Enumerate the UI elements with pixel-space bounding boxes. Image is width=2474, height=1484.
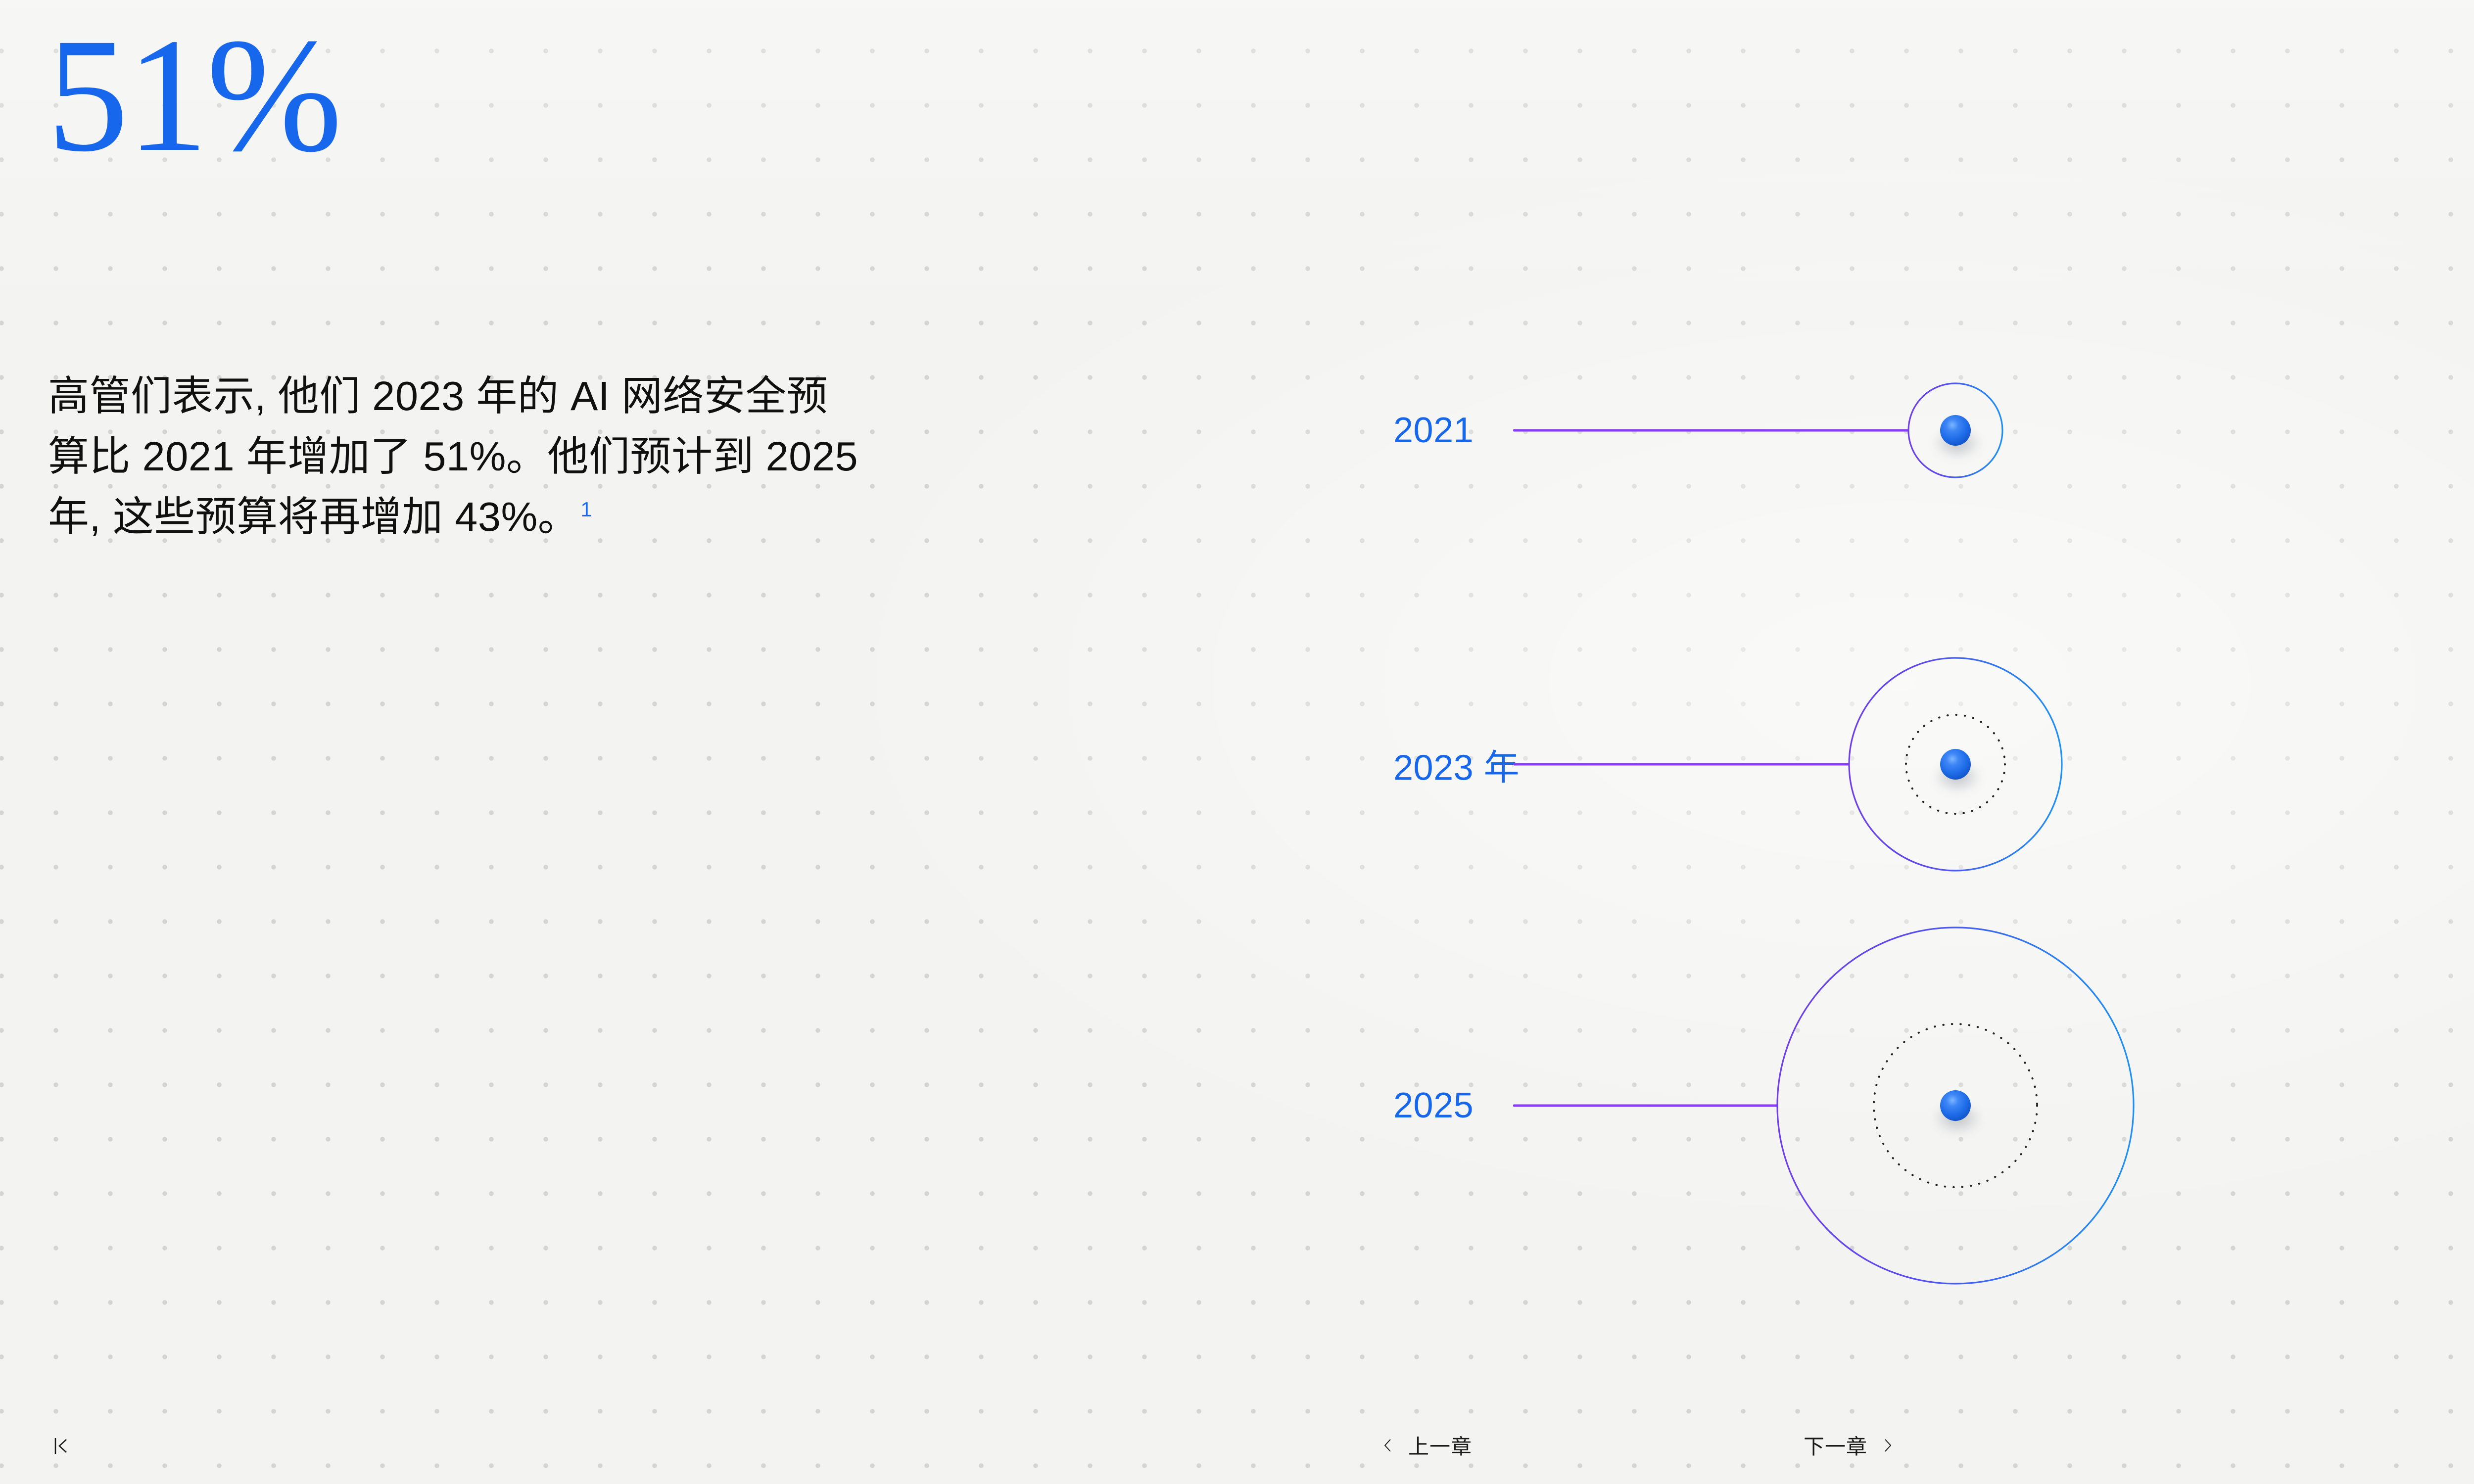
left-content-column: 51% 高管们表示, 他们 2023 年的 AI 网络安全预算比 2021 年增… [47,0,898,1484]
prev-chapter-label: 上一章 [1408,1430,1472,1460]
bubble-orb-2025 [1940,1090,1971,1121]
bubble-label-2023: 2023 年 [1393,739,1520,790]
bubble-orb-2021 [1940,415,1971,446]
skip-to-start-icon [53,1437,70,1455]
connector-line-2023 [1513,763,1849,766]
next-chapter-button[interactable]: 下一章 [1804,1430,1895,1460]
body-paragraph: 高管们表示, 他们 2023 年的 AI 网络安全预算比 2021 年增加了 5… [48,366,859,547]
footer-bar: 上一章 下一章 8 [0,1405,2474,1484]
next-chapter-label: 下一章 [1804,1430,1867,1460]
connector-line-2025 [1513,1105,1777,1107]
chevron-left-icon [1380,1438,1395,1453]
footnote-marker[interactable]: 1 [580,498,592,521]
slide-page: 51% 高管们表示, 他们 2023 年的 AI 网络安全预算比 2021 年增… [0,0,2474,1484]
bubble-orb-2023 [1940,749,1971,780]
body-paragraph-text: 高管们表示, 他们 2023 年的 AI 网络安全预算比 2021 年增加了 5… [48,373,858,540]
bubble-label-2025: 2025 [1393,1085,1474,1126]
bubble-label-2021: 2021 [1393,410,1474,451]
chevron-right-icon [1880,1438,1895,1453]
prev-chapter-button[interactable]: 上一章 [1380,1430,1472,1460]
headline-stat: 51% [47,14,340,177]
bubble-diagram: 2021 2023 年 2025 [1286,277,2474,1365]
skip-to-start-button[interactable] [53,1437,70,1455]
connector-line-2021 [1513,429,1908,432]
